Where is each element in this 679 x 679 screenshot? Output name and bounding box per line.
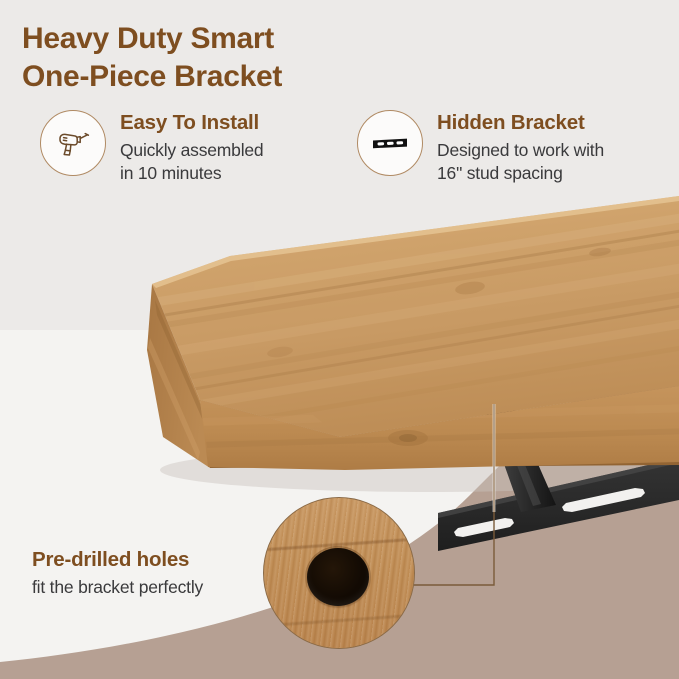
page-title: Heavy Duty Smart One-Piece Bracket xyxy=(22,20,442,97)
callout-title: Pre-drilled holes xyxy=(32,548,262,573)
callout-description: fit the bracket perfectly xyxy=(32,576,262,599)
feature-description: Quickly assembled in 10 minutes xyxy=(120,139,263,185)
callout-caption: Pre-drilled holes fit the bracket perfec… xyxy=(32,548,262,598)
feature-text-block: Hidden Bracket Designed to work with 16"… xyxy=(437,110,604,185)
feature-easy-to-install: Easy To Install Quickly assembled in 10 … xyxy=(40,110,340,185)
feature-description: Designed to work with 16" stud spacing xyxy=(437,139,604,185)
drilled-hole xyxy=(307,548,369,606)
feature-title: Hidden Bracket xyxy=(437,111,604,136)
feature-text-block: Easy To Install Quickly assembled in 10 … xyxy=(120,110,263,185)
magnified-hole-detail xyxy=(263,497,415,649)
product-feature-poster: Heavy Duty Smart One-Piece Bracket Easy … xyxy=(0,0,679,679)
bracket-bar-icon xyxy=(357,110,423,176)
feature-title: Easy To Install xyxy=(120,111,263,136)
drill-icon xyxy=(40,110,106,176)
feature-hidden-bracket: Hidden Bracket Designed to work with 16"… xyxy=(357,110,667,185)
